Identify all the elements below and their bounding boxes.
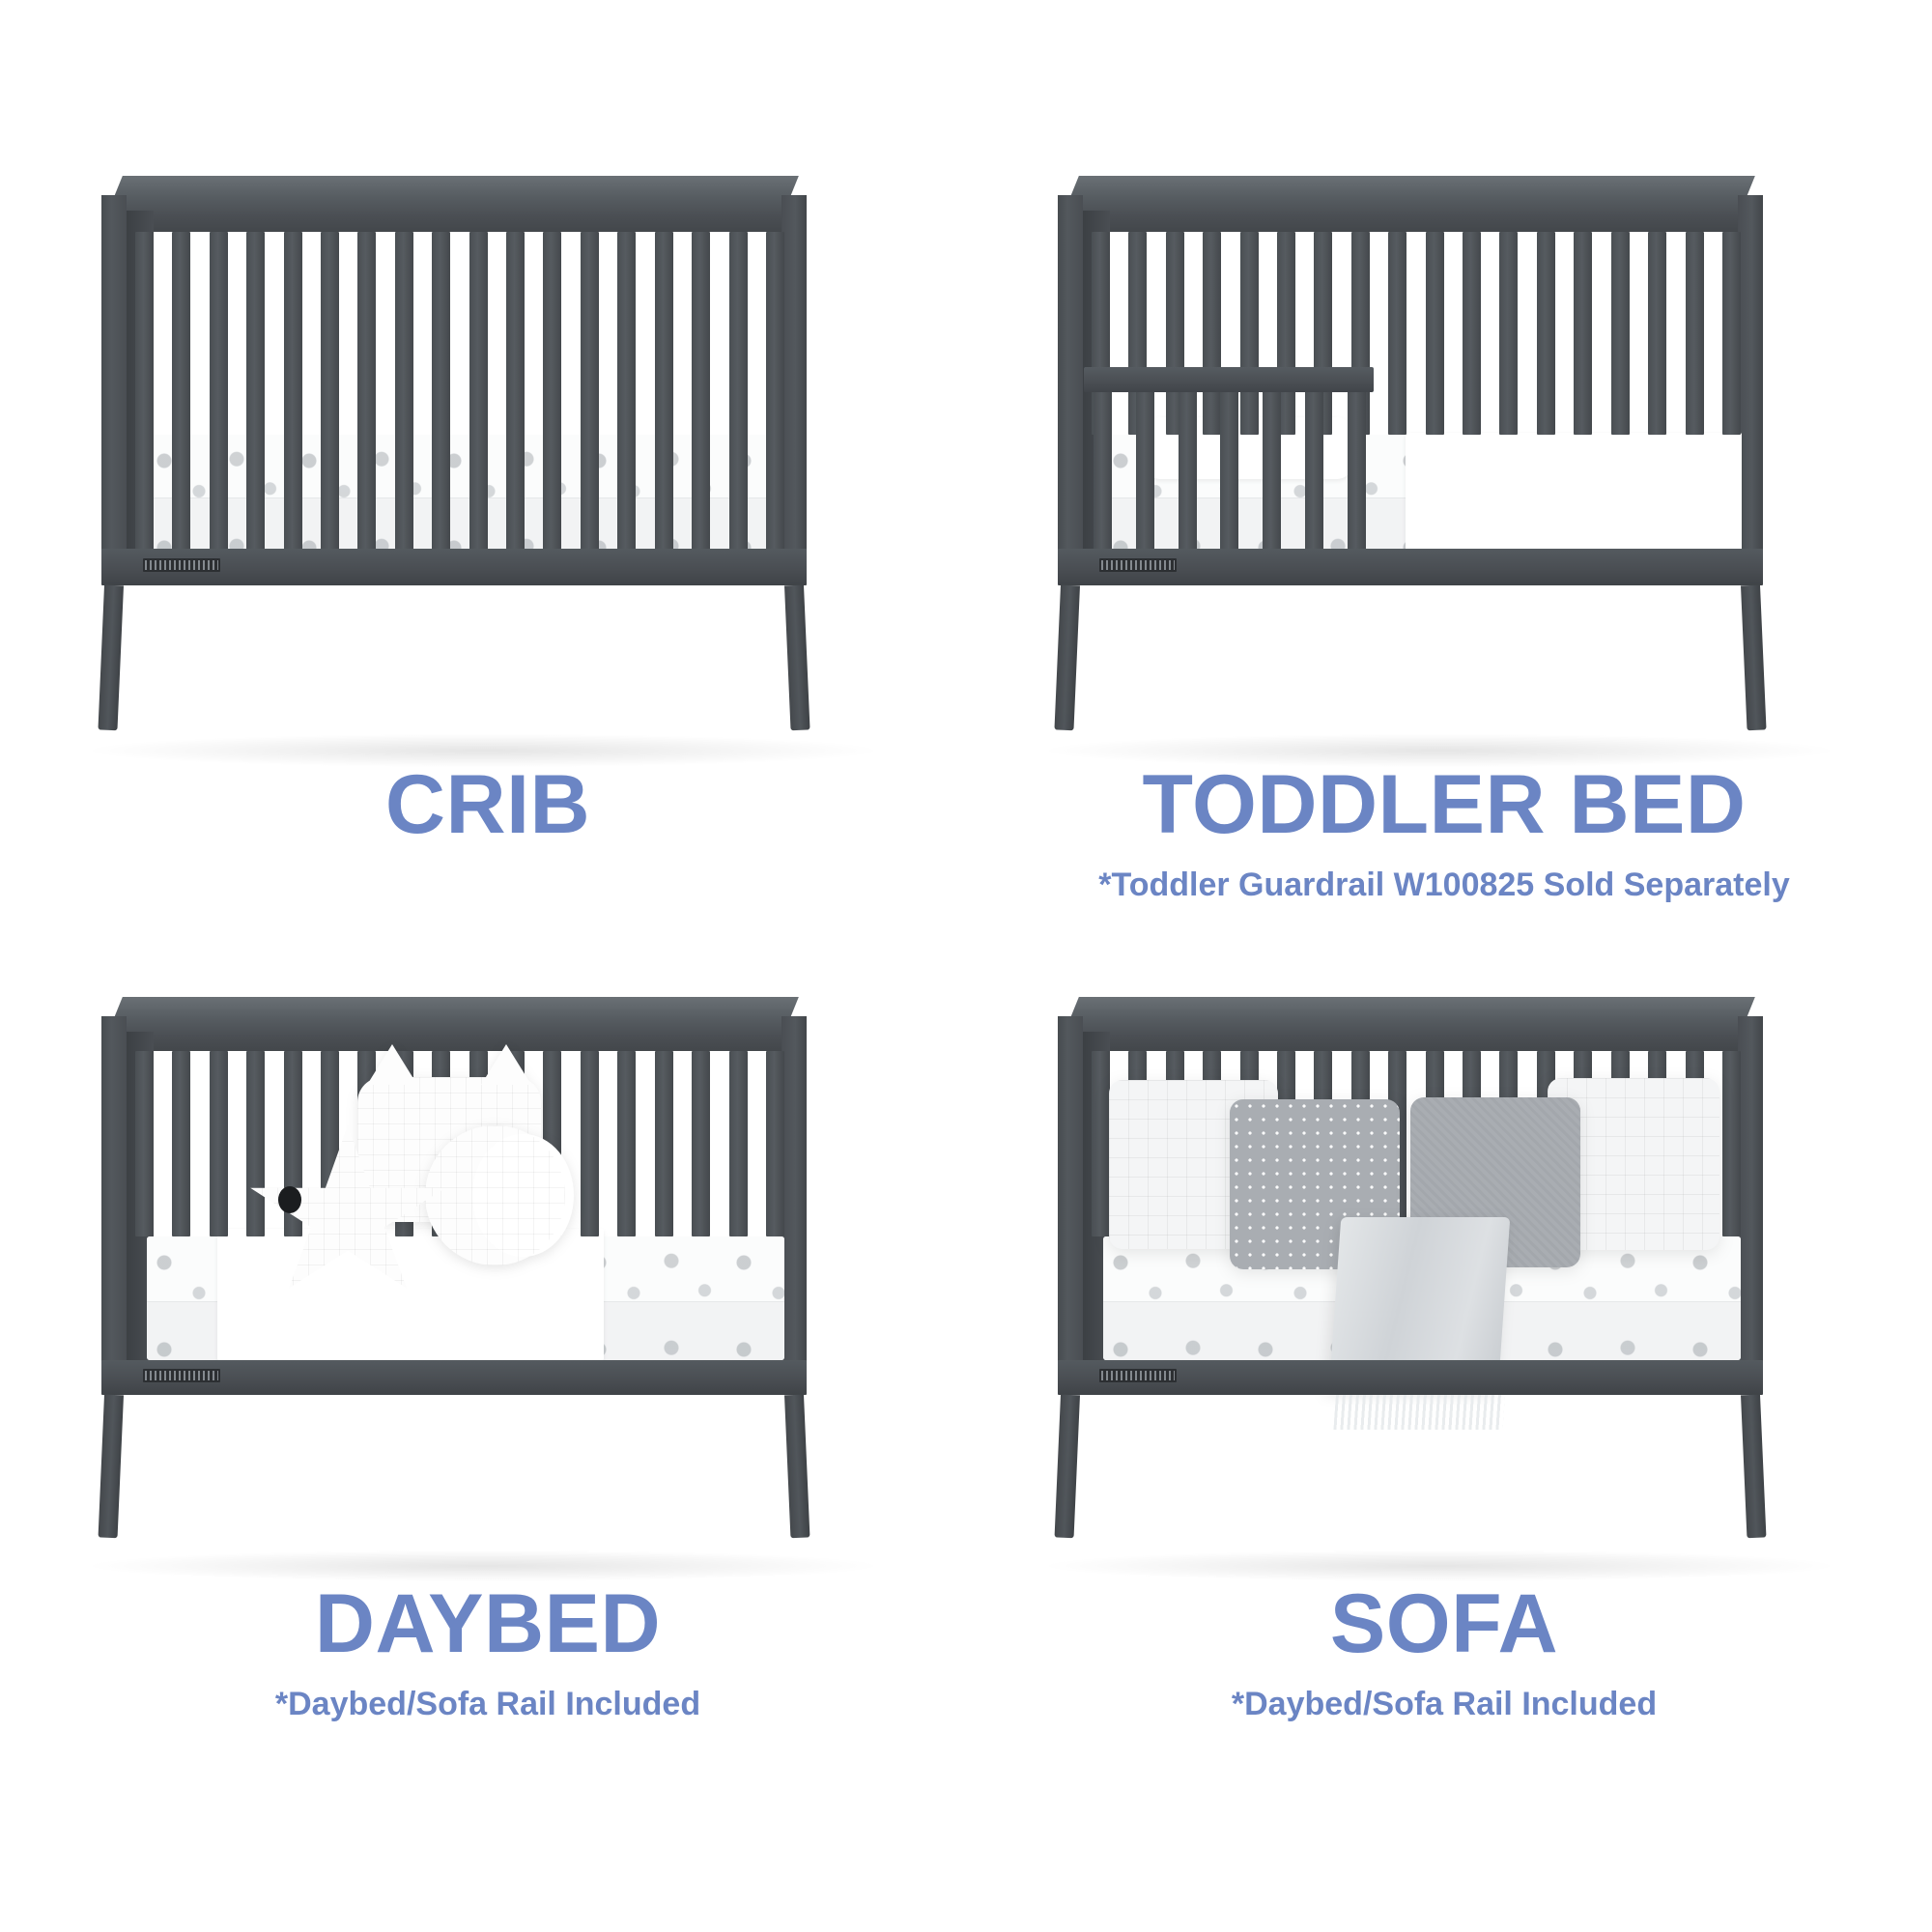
sofa-leg-left [1055,1395,1080,1539]
label-crib: CRIB [39,763,937,846]
panel-toddler-bed [995,145,1893,763]
toddler-bed-illustration [995,145,1893,763]
caption-crib: CRIB [39,763,937,846]
daybed-legs [39,976,937,1575]
sofa-legs [995,976,1893,1575]
caption-sofa: SOFA *Daybed/Sofa Rail Included [995,1582,1893,1722]
caption-toddler-bed: TODDLER BED *Toddler Guardrail W100825 S… [995,763,1893,903]
crib-leg-left [98,585,124,731]
daybed-leg-left [99,1395,124,1539]
panel-daybed [39,976,937,1575]
product-configuration-infographic: CRIB [0,0,1932,1932]
toddler-leg-left [1054,585,1080,731]
daybed-illustration [39,976,937,1575]
sofa-illustration [995,976,1893,1575]
daybed-leg-right [784,1395,810,1539]
crib-leg-right [784,585,810,731]
crib-legs [39,145,937,763]
sofa-leg-right [1741,1395,1766,1539]
caption-daybed: DAYBED *Daybed/Sofa Rail Included [39,1582,937,1722]
label-sofa: SOFA [995,1582,1893,1665]
toddler-legs [995,145,1893,763]
note-daybed-rail: *Daybed/Sofa Rail Included [39,1687,937,1722]
note-toddler-guardrail: *Toddler Guardrail W100825 Sold Separate… [995,867,1893,903]
label-toddler-bed: TODDLER BED [995,763,1893,846]
crib-illustration [39,145,937,763]
panel-sofa [995,976,1893,1575]
label-daybed: DAYBED [39,1582,937,1665]
toddler-leg-right [1741,585,1767,731]
note-sofa-rail: *Daybed/Sofa Rail Included [995,1687,1893,1722]
panel-crib [39,145,937,763]
